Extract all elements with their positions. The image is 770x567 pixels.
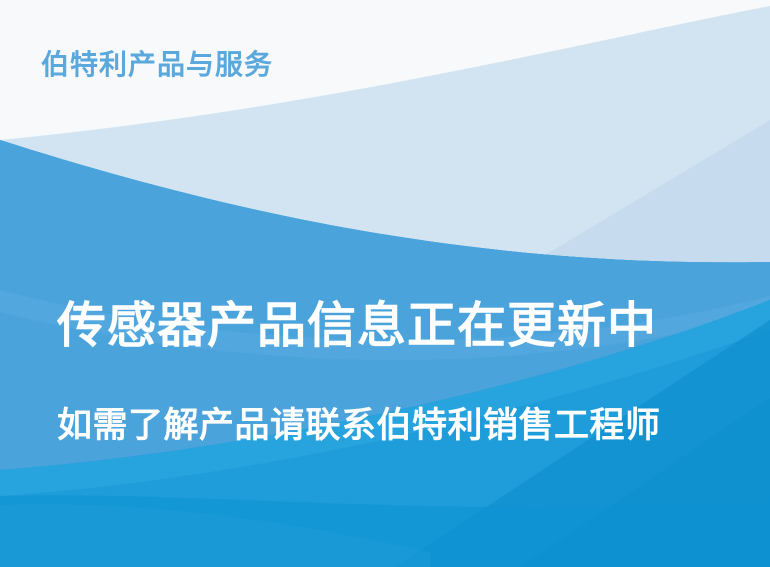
subheadline: 如需了解产品请联系伯特利销售工程师 bbox=[57, 404, 661, 447]
banner-content: 伯特利产品与服务 传感器产品信息正在更新中 如需了解产品请联系伯特利销售工程师 bbox=[0, 0, 770, 567]
brand-heading: 伯特利产品与服务 bbox=[41, 48, 273, 82]
product-service-banner: 伯特利产品与服务 传感器产品信息正在更新中 如需了解产品请联系伯特利销售工程师 bbox=[0, 0, 770, 567]
headline: 传感器产品信息正在更新中 bbox=[57, 297, 657, 355]
